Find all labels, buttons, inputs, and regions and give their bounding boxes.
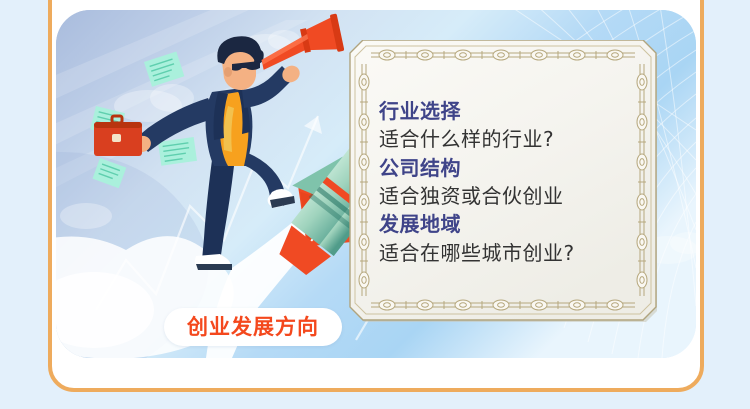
- panel-line-body-structure: 适合独资或合伙创业: [379, 182, 635, 210]
- pill-label-creative-direction: 创业发展方向: [164, 308, 342, 346]
- poster-root: 创业发展方向: [0, 0, 750, 409]
- panel-line-heading-region: 发展地域: [379, 210, 635, 238]
- panel-line-body-region: 适合在哪些城市创业?: [379, 239, 635, 267]
- briefcase-icon: [94, 116, 142, 156]
- panel-line-heading-industry: 行业选择: [379, 97, 635, 125]
- pill-label-text: 创业发展方向: [187, 317, 319, 338]
- panel-text-block: 行业选择 适合什么样的行业? 公司结构 适合独资或合伙创业 发展地域 适合在哪些…: [379, 58, 635, 306]
- certificate-text-panel: 行业选择 适合什么样的行业? 公司结构 适合独资或合伙创业 发展地域 适合在哪些…: [349, 40, 657, 322]
- panel-line-body-industry: 适合什么样的行业?: [379, 125, 635, 153]
- panel-line-heading-structure: 公司结构: [379, 154, 635, 182]
